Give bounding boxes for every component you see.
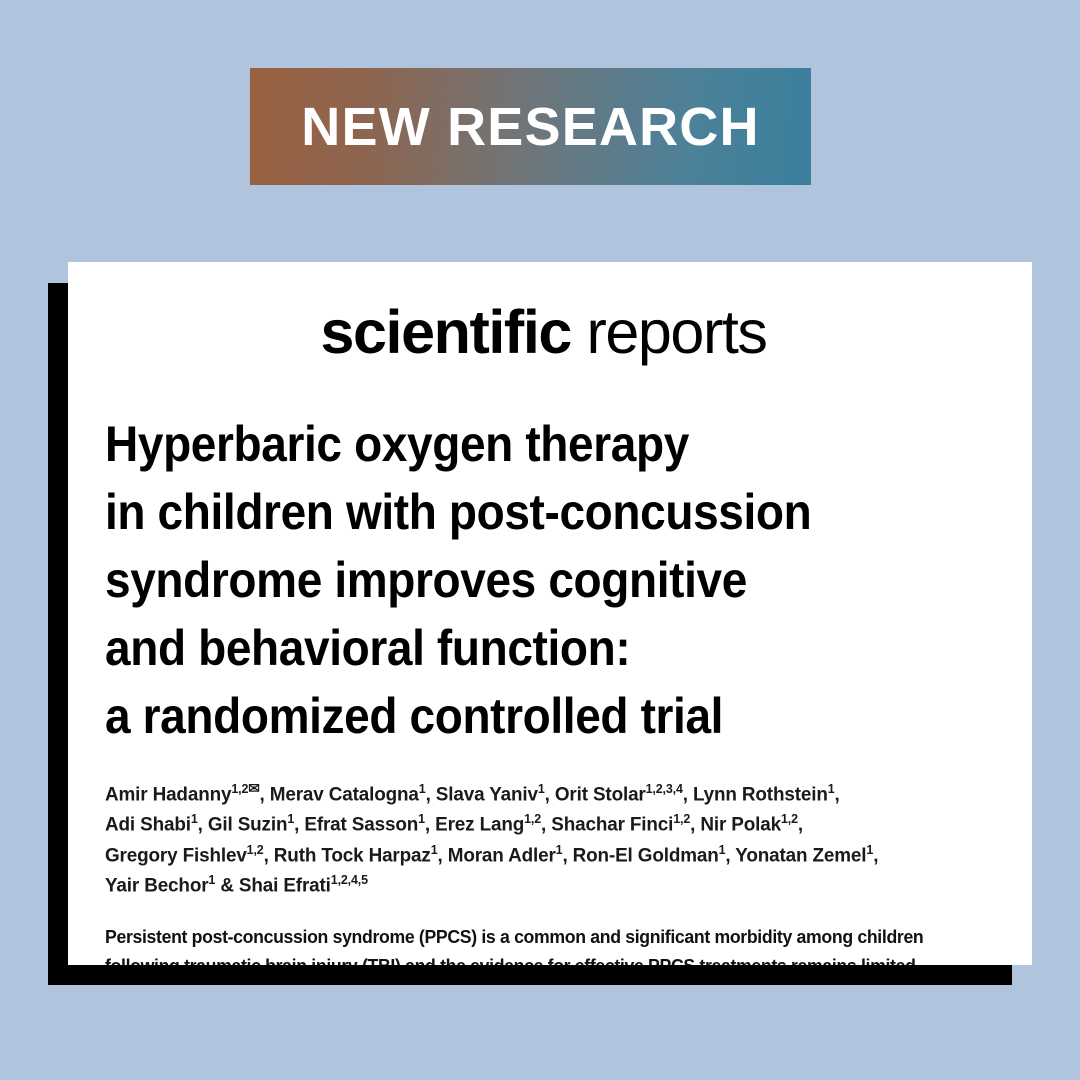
author-name: Adi Shabi	[105, 815, 191, 836]
author-line: Gregory Fishlev1,2, Ruth Tock Harpaz1, M…	[105, 841, 979, 871]
envelope-icon[interactable]: ✉	[248, 780, 259, 796]
journal-logo-bold: scientific	[320, 298, 570, 366]
author-affiliation-marker: 1,2	[231, 782, 248, 796]
article-title-line: Hyperbaric oxygen therapy	[105, 410, 921, 478]
author-name: Efrat Sasson	[304, 815, 418, 836]
author-affiliation-marker: 1	[538, 782, 545, 796]
author-name: Erez Lang	[435, 815, 524, 836]
author-affiliation-marker: 1	[287, 812, 294, 826]
author-name: Gregory Fishlev	[105, 845, 247, 866]
article-title: Hyperbaric oxygen therapyin children wit…	[105, 410, 921, 750]
article-title-line: in children with post-concussion	[105, 478, 921, 546]
abstract-line: following traumatic brain injury (TBI) a…	[105, 952, 948, 965]
author-line: Adi Shabi1, Gil Suzin1, Efrat Sasson1, E…	[105, 810, 979, 840]
author-affiliation-marker: 1	[191, 812, 198, 826]
author-list: Amir Hadanny1,2✉, Merav Catalogna1, Slav…	[105, 778, 979, 901]
new-research-banner: NEW RESEARCH	[250, 68, 811, 185]
banner-label: NEW RESEARCH	[301, 100, 759, 154]
author-line: Amir Hadanny1,2✉, Merav Catalogna1, Slav…	[105, 778, 979, 810]
author-name: Slava Yaniv	[436, 784, 538, 805]
author-affiliation-marker: 1	[431, 843, 438, 857]
article-title-line: and behavioral function:	[105, 614, 921, 682]
author-affiliation-marker: 1,2	[524, 812, 541, 826]
author-affiliation-marker: 1,2	[673, 812, 690, 826]
author-name: Ruth Tock Harpaz	[274, 845, 431, 866]
author-name: Ron-El Goldman	[573, 845, 719, 866]
author-name: Shai Efrati	[239, 875, 331, 896]
author-name: Yair Bechor	[105, 875, 208, 896]
author-affiliation-marker: 1	[866, 843, 873, 857]
author-line: Yair Bechor1 & Shai Efrati1,2,4,5	[105, 871, 979, 901]
abstract-text: Persistent post-concussion syndrome (PPC…	[105, 923, 948, 965]
paper-preview-card[interactable]: scientific reports Hyperbaric oxygen the…	[68, 262, 1032, 965]
author-name: Lynn Rothstein	[693, 784, 828, 805]
author-affiliation-marker: 1	[719, 843, 726, 857]
journal-logo: scientific reports	[95, 300, 992, 364]
author-name: Orit Stolar	[555, 784, 646, 805]
author-name: Shachar Finci	[551, 815, 673, 836]
author-affiliation-marker: 1,2,3,4	[646, 782, 683, 796]
author-affiliation-marker: 1	[828, 782, 835, 796]
author-affiliation-marker: 1	[418, 812, 425, 826]
author-name: Nir Polak	[700, 815, 781, 836]
author-affiliation-marker: 1	[208, 873, 215, 887]
article-title-line: syndrome improves cognitive	[105, 546, 921, 614]
author-affiliation-marker: 1	[419, 782, 426, 796]
abstract-line: Persistent post-concussion syndrome (PPC…	[105, 923, 948, 951]
author-name: Gil Suzin	[208, 815, 288, 836]
card-content: scientific reports Hyperbaric oxygen the…	[68, 262, 1032, 965]
journal-logo-light: reports	[571, 298, 767, 366]
author-name: Moran Adler	[448, 845, 556, 866]
author-name: Merav Catalogna	[270, 784, 419, 805]
author-affiliation-marker: 1,2,4,5	[331, 873, 368, 887]
author-affiliation-marker: 1,2	[247, 843, 264, 857]
author-name: Yonatan Zemel	[735, 845, 866, 866]
author-name: Amir Hadanny	[105, 784, 231, 805]
article-title-line: a randomized controlled trial	[105, 682, 921, 750]
author-affiliation-marker: 1,2	[781, 812, 798, 826]
author-affiliation-marker: 1	[556, 843, 563, 857]
